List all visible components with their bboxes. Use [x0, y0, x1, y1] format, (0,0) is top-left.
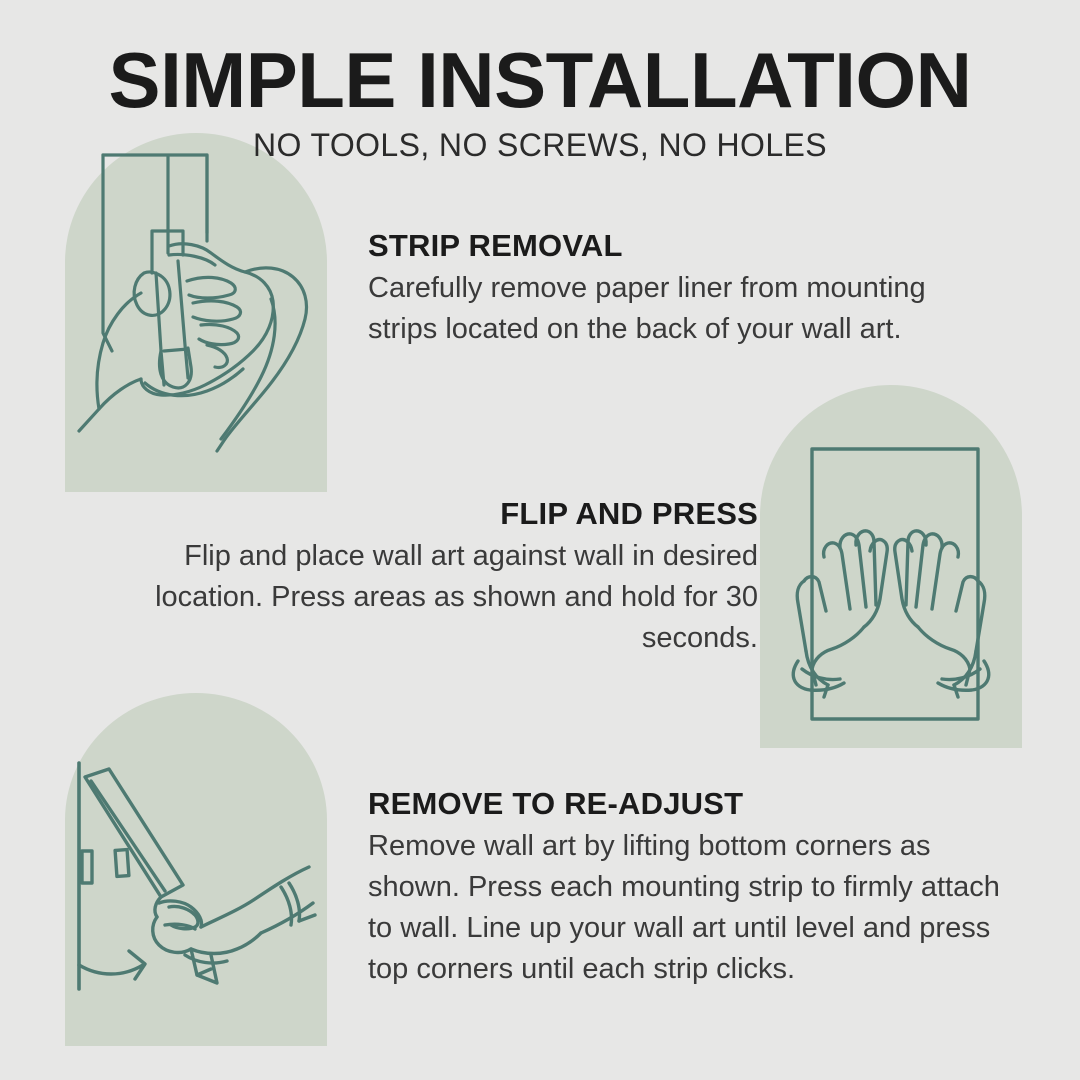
step-heading-strip-removal: STRIP REMOVAL [368, 228, 998, 264]
infographic-header: SIMPLE INSTALLATION NO TOOLS, NO SCREWS,… [0, 0, 1080, 164]
page-subtitle: NO TOOLS, NO SCREWS, NO HOLES [0, 118, 1080, 163]
illustration-panel-flip-and-press [760, 385, 1022, 748]
step-body-strip-removal: Carefully remove paper liner from mounti… [368, 268, 998, 350]
step-body-flip-and-press: Flip and place wall art against wall in … [110, 536, 758, 660]
hand-peeling-liner-icon [65, 133, 327, 492]
step-heading-flip-and-press: FLIP AND PRESS [110, 496, 758, 532]
step-body-remove-to-readjust: Remove wall art by lifting bottom corner… [368, 826, 1013, 991]
hand-lifting-corner-icon [65, 693, 327, 1046]
step-heading-remove-to-readjust: REMOVE TO RE-ADJUST [368, 786, 1013, 822]
two-hands-pressing-icon [760, 385, 1022, 748]
illustration-panel-strip-removal [65, 133, 327, 492]
step-block-flip-and-press: FLIP AND PRESS Flip and place wall art a… [110, 496, 758, 659]
illustration-panel-remove-to-readjust [65, 693, 327, 1046]
step-block-remove-to-readjust: REMOVE TO RE-ADJUST Remove wall art by l… [368, 786, 1013, 990]
page-title: SIMPLE INSTALLATION [0, 0, 1080, 118]
step-block-strip-removal: STRIP REMOVAL Carefully remove paper lin… [368, 228, 998, 350]
